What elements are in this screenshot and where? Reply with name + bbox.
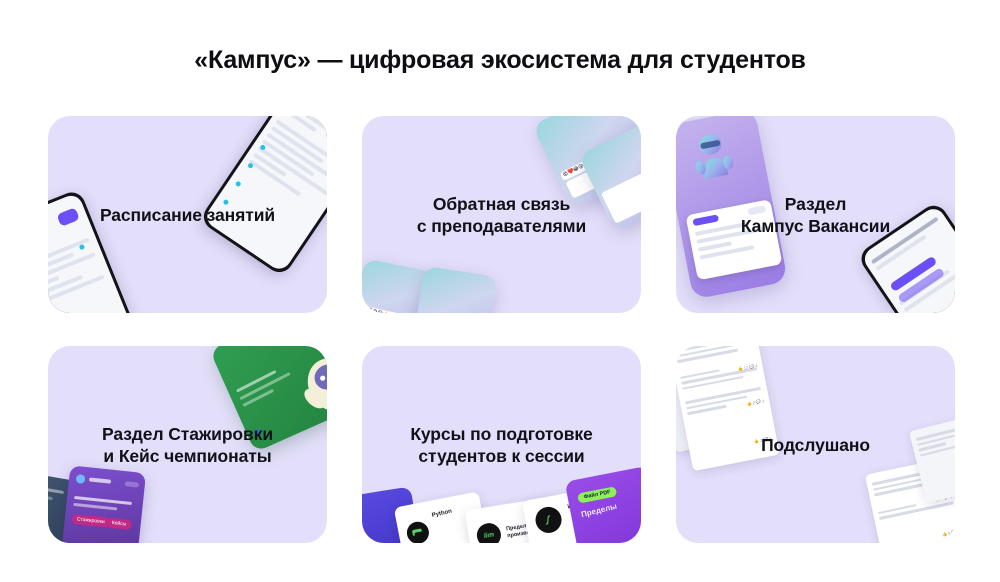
course-title-python: Python: [431, 509, 452, 519]
card-label-teacher-feedback: Обратная связь с преподавателями: [362, 192, 641, 236]
course-title-limits: Пределы: [580, 502, 618, 520]
card-label-schedule: Расписание занятий: [48, 203, 327, 225]
course-violet-card: Файл PDF Пределы: [565, 466, 641, 543]
feature-card-internships[interactable]: Стажировки Кейсы Раздел Стажировки и Кей…: [48, 346, 327, 543]
lim-symbol: lim: [475, 521, 502, 543]
card-label-overheard: Подслушано: [676, 433, 955, 455]
feature-card-exam-courses[interactable]: Python Раздел 1. Предел lim Пределы и пр…: [362, 346, 641, 543]
feature-card-grid: Расписание занятий 😡❤️😂😮👍🔥 😡❤️😂😮👍 😡❤️😂😮👍…: [48, 116, 955, 543]
pdf-pill: Файл PDF: [577, 486, 617, 503]
feedback-tile-bottom-right: 😡❤️😂😮👍: [412, 266, 498, 313]
internship-purple-card: Стажировки Кейсы: [58, 465, 146, 543]
phone-mockup-schedule-top: [199, 116, 327, 277]
card-label-internships: Раздел Стажировки и Кейс чемпионаты: [48, 422, 327, 466]
card-label-exam-courses: Курсы по подготовке студентов к сессии: [362, 422, 641, 466]
feature-card-teacher-feedback[interactable]: 😡❤️😂😮👍🔥 😡❤️😂😮👍 😡❤️😂😮👍 Обратная связь с п…: [362, 116, 641, 313]
feature-card-overheard[interactable]: 👍 12 💬 4 👍 8 💬 2 👍 3 💬 1 👍 6 💬 2 👍 9 💬 5…: [676, 346, 955, 543]
page-title: «Кампус» — цифровая экосистема для студе…: [0, 46, 1000, 75]
mascot-icon: [289, 346, 327, 431]
card-label-campus-vacancies: Раздел Кампус Вакансии: [676, 192, 955, 236]
robot-3d-icon: [688, 128, 736, 183]
feature-card-campus-vacancies[interactable]: Раздел Кампус Вакансии: [676, 116, 955, 313]
feature-card-schedule[interactable]: Расписание занятий: [48, 116, 327, 313]
